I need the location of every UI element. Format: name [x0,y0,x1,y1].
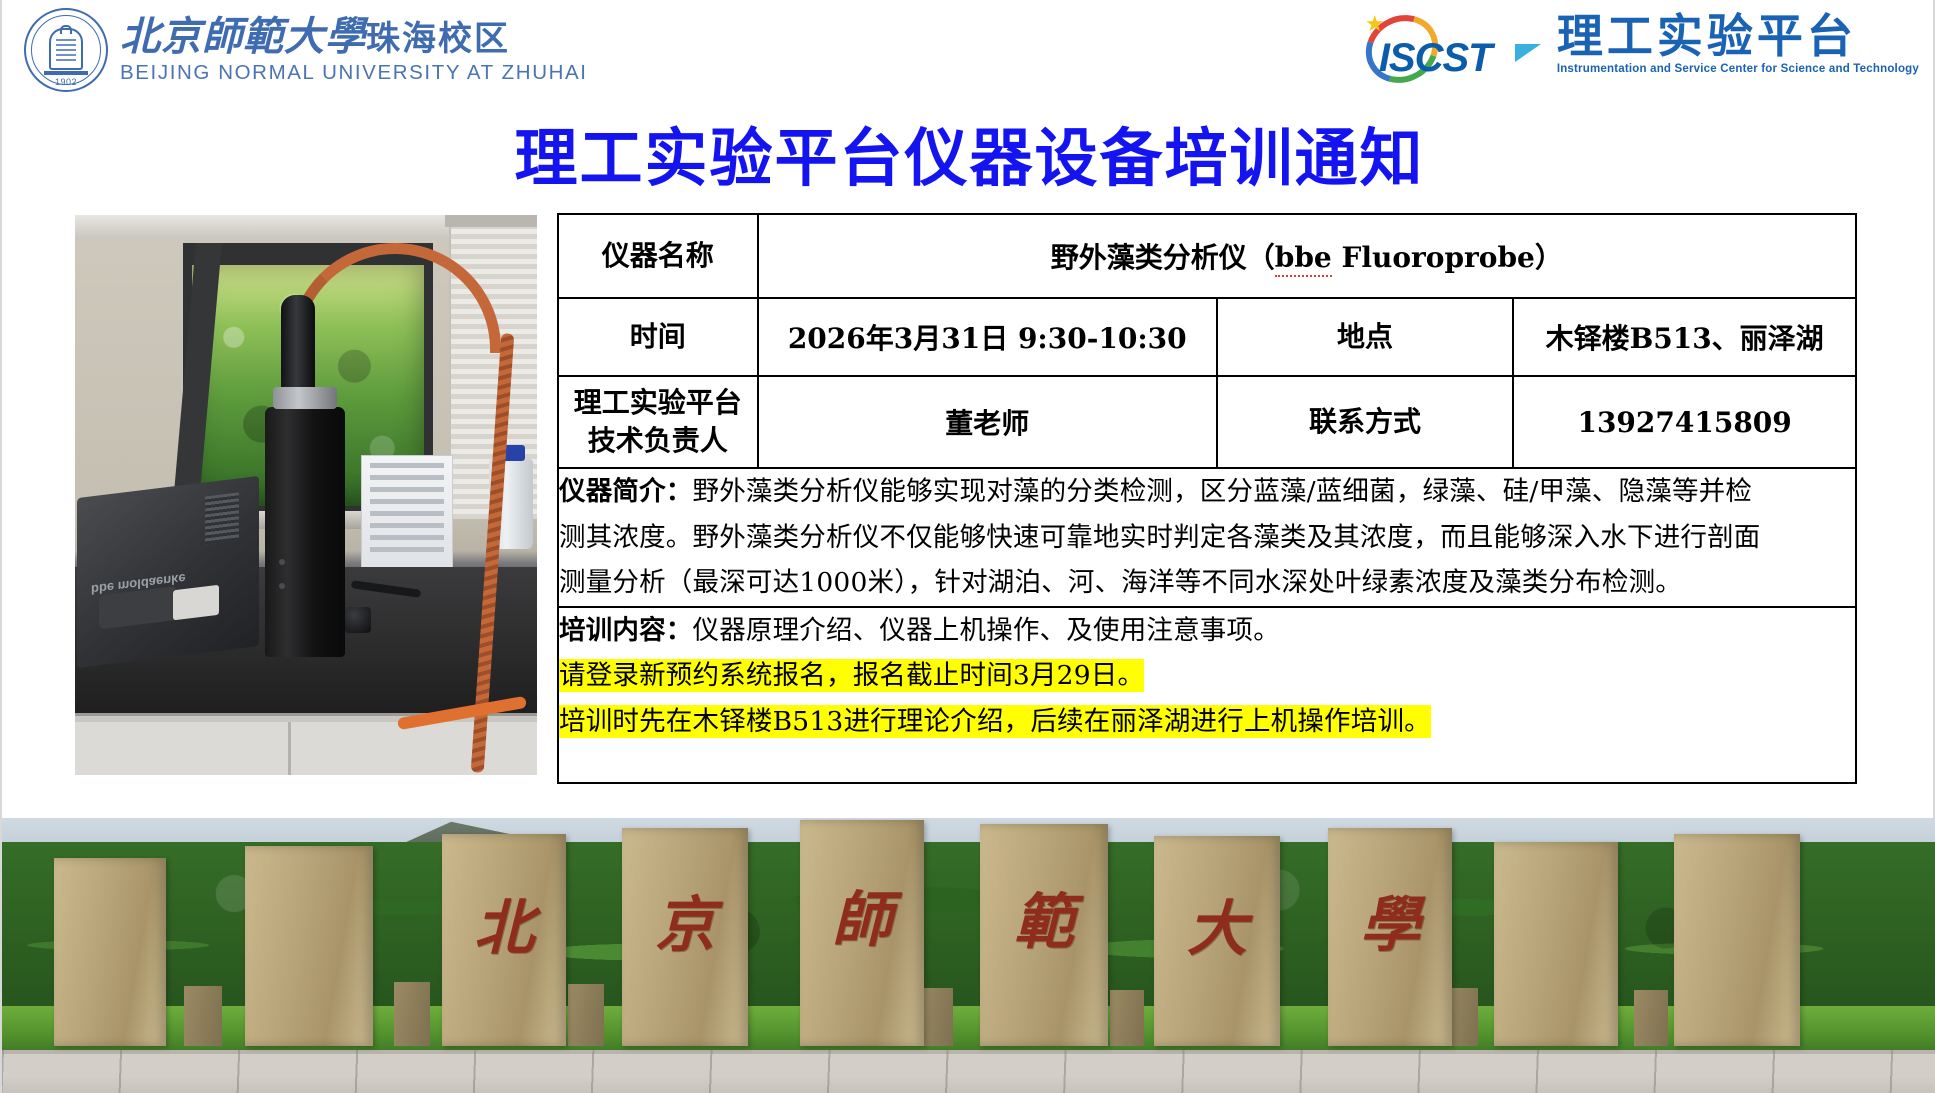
bnu-name-en: BEIJING NORMAL UNIVERSITY AT ZHUHAI [120,61,588,85]
stone-char-6: 學 [1328,876,1452,963]
bnu-logo: 1902 北京師範大學珠海校区 BEIJING NORMAL UNIVERSIT… [24,8,588,92]
label-technical-lead-line1: 理工实验平台 [559,384,757,422]
stone-slab-char-5: 大 [1154,836,1280,1046]
instrument-name-mark: bbe [1275,241,1332,277]
intro-line-2: 测其浓度。野外藻类分析仪不仅能够快速可靠地实时判定各藻类及其浓度，而且能够深入水… [559,515,1855,561]
stone-char-2: 京 [622,876,748,963]
training-announcement-poster: 1902 北京師範大學珠海校区 BEIJING NORMAL UNIVERSIT… [0,0,1935,1093]
instrument-case: bbe moldaenke [77,476,259,668]
stone-char-5: 大 [1154,881,1280,968]
iscst-logo: ★ ISCST 理工实验平台 Instrumentation and Servi… [1357,12,1919,86]
training-line-1: 培训内容：仪器原理介绍、仪器上机操作、及使用注意事项。 [559,608,1855,654]
stone-slab-char-1: 北 [442,834,566,1046]
training-highlight-2-wrap: 培训时先在木铎楼B513进行理论介绍，后续在丽泽湖进行上机操作培训。 [559,699,1855,745]
bnu-seal-icon: 1902 [24,8,108,92]
training-highlight-1: 请登录新预约系统报名，报名截止时间3月29日。 [559,659,1144,692]
intro-line-1: 仪器简介：野外藻类分析仪能够实现对藻的分类检测，区分蓝藻/蓝细菌，绿藻、硅/甲藻… [559,469,1855,515]
bnu-name-cn: 北京師範大學珠海校区 [120,15,588,60]
stone-slab-blank-4 [1674,834,1800,1046]
stone-slab-char-4: 範 [980,824,1108,1046]
training-highlight-1-wrap: 请登录新预约系统报名，报名截止时间3月29日。 [559,653,1855,699]
stone-char-4: 範 [980,874,1108,961]
training-info-table: 仪器名称 野外藻类分析仪（bbe Fluoroprobe） 时间 2026年3月… [557,213,1857,784]
value-instrument-name: 野外藻类分析仪（bbe Fluoroprobe） [758,214,1856,298]
iscst-wordmark: ISCST [1379,36,1492,81]
bnu-name-cn-main: 北京師範大學 [120,13,366,60]
poster-header: 1902 北京師範大學珠海校区 BEIJING NORMAL UNIVERSIT… [2,0,1935,112]
training-cell: 培训内容：仪器原理介绍、仪器上机操作、及使用注意事项。 请登录新预约系统报名，报… [558,607,1856,783]
table-row-time-location: 时间 2026年3月31日 9:30-10:30 地点 木铎楼B513、丽泽湖 [558,298,1856,376]
seal-arc-text [24,17,108,24]
iscst-name-en: Instrumentation and Service Center for S… [1557,63,1919,75]
table-row-instrument-name: 仪器名称 野外藻类分析仪（bbe Fluoroprobe） [558,214,1856,298]
instrument-photo: bbe moldaenke [75,215,537,775]
table-row-contact: 理工实验平台 技术负责人 董老师 联系方式 13927415809 [558,376,1856,468]
bnu-campus-cn: 珠海校区 [366,19,510,59]
intro-heading: 仪器简介： [559,476,693,507]
iscst-name-cn: 理工实验平台 [1557,12,1919,60]
training-highlight-2: 培训时先在木铎楼B513进行理论介绍，后续在丽泽湖进行上机操作培训。 [559,705,1431,738]
training-line-1-rest: 仪器原理介绍、仪器上机操作、及使用注意事项。 [693,615,1280,646]
intro-cell: 仪器简介：野外藻类分析仪能够实现对藻的分类检测，区分蓝藻/蓝细菌，绿藻、硅/甲藻… [558,468,1856,607]
label-technical-lead-line2: 技术负责人 [559,422,757,460]
seal-year: 1902 [24,77,108,87]
label-location: 地点 [1217,298,1513,376]
stone-slab-char-3: 師 [800,820,924,1046]
stone-slab-blank-1 [54,858,166,1046]
instrument-name-prefix: 野外藻类分析仪（ [1051,241,1275,274]
training-heading: 培训内容： [559,615,693,646]
value-contact: 13927415809 [1513,376,1856,468]
stone-slab-char-6: 學 [1328,828,1452,1046]
label-technical-lead: 理工实验平台 技术负责人 [558,376,758,468]
campus-banner-image: 北 京 師 範 大 學 [2,818,1935,1093]
intro-line-3: 测量分析（最深可达1000米），针对湖泊、河、海洋等不同水深处叶绿素浓度及藻类分… [559,560,1855,606]
label-instrument-name: 仪器名称 [558,214,758,298]
stone-slab-blank-3 [1494,842,1618,1046]
instrument-name-suffix: Fluoroprobe） [1332,241,1563,274]
lens-cap [345,607,371,633]
label-contact: 联系方式 [1217,376,1513,468]
iscst-mark-icon: ★ ISCST [1357,12,1553,86]
table-row-intro: 仪器简介：野外藻类分析仪能够实现对藻的分类检测，区分蓝藻/蓝细菌，绿藻、硅/甲藻… [558,468,1856,607]
fluoroprobe-body [265,407,345,657]
iscst-triangle-icon [1515,44,1541,62]
stone-slab-char-2: 京 [622,828,748,1046]
intro-line-1-rest: 野外藻类分析仪能够实现对藻的分类检测，区分蓝藻/蓝细菌，绿藻、硅/甲藻、隐藻等并… [693,476,1753,507]
value-technical-lead: 董老师 [758,376,1217,468]
table-row-training: 培训内容：仪器原理介绍、仪器上机操作、及使用注意事项。 请登录新预约系统报名，报… [558,607,1856,783]
label-time: 时间 [558,298,758,376]
page-title: 理工实验平台仪器设备培训通知 [2,108,1935,199]
info-sheet [361,455,453,573]
stone-char-3: 師 [800,871,924,958]
stone-char-1: 北 [442,880,566,967]
value-time: 2026年3月31日 9:30-10:30 [758,298,1217,376]
stone-slab-blank-2 [245,846,373,1046]
plaza-pavement [2,1050,1935,1093]
value-location: 木铎楼B513、丽泽湖 [1513,298,1856,376]
